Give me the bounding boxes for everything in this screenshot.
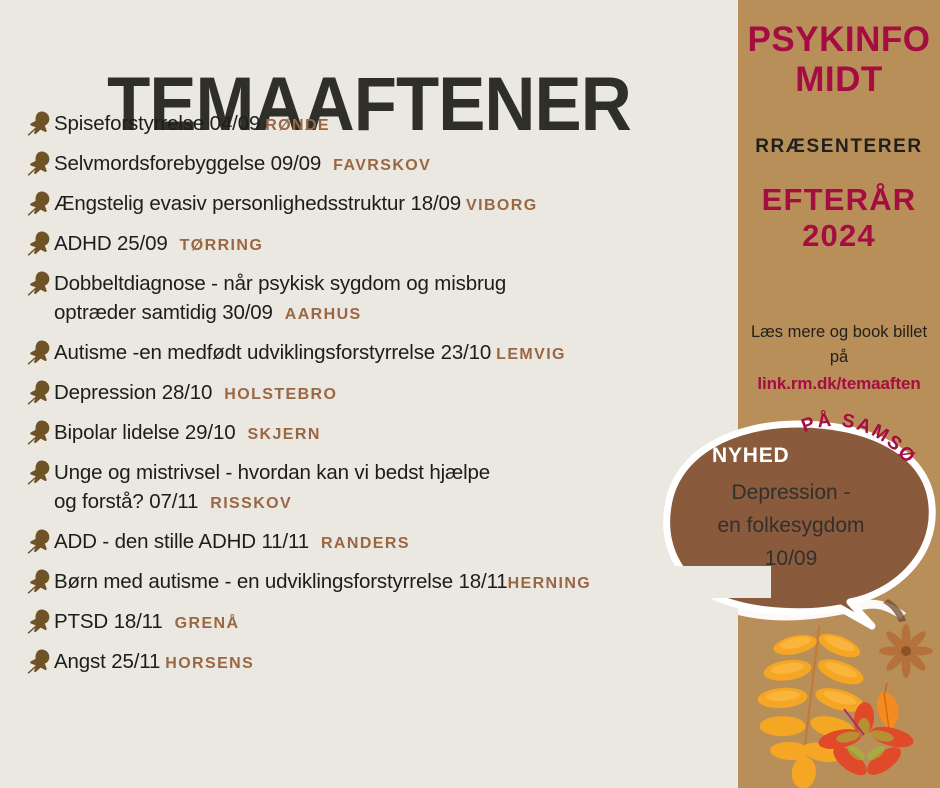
event-text: Ængstelig evasiv personlighedsstruktur 1… xyxy=(54,188,746,220)
event-text: Depression 28/10HOLSTEBRO xyxy=(54,377,746,409)
pushpin-icon xyxy=(26,648,54,674)
event-row[interactable]: Angst 25/11HORSENS xyxy=(26,646,746,678)
event-row[interactable]: ADHD 25/09TØRRING xyxy=(26,228,746,260)
event-row[interactable]: Depression 28/10HOLSTEBRO xyxy=(26,377,746,409)
pushpin-icon xyxy=(26,230,54,256)
pushpin-icon xyxy=(26,379,54,405)
event-title: Angst 25/11 xyxy=(54,650,160,673)
event-row[interactable]: Bipolar lidelse 29/10SKJERN xyxy=(26,417,746,449)
event-title-line-1: Dobbeltdiagnose - når psykisk sygdom og … xyxy=(54,269,746,298)
event-row[interactable]: Børn med autisme - en udviklingsforstyrr… xyxy=(26,566,771,598)
event-text: Angst 25/11HORSENS xyxy=(54,646,746,678)
event-city: RØNDE xyxy=(265,117,330,134)
event-text: Unge og mistrivsel - hvordan kan vi beds… xyxy=(54,457,746,518)
pushpin-icon xyxy=(26,150,54,176)
event-title: ADHD 25/09 xyxy=(54,232,168,255)
event-city: AARHUS xyxy=(285,306,362,323)
event-title-line-2-text: og forstå? 07/11 xyxy=(54,490,198,513)
booking-info: Læs mere og book billet på link.rm.dk/te… xyxy=(744,320,934,396)
event-title: Depression 28/10 xyxy=(54,381,212,404)
event-city: GRENÅ xyxy=(175,615,240,632)
pushpin-icon xyxy=(26,190,54,216)
event-city: VIBORG xyxy=(466,197,538,214)
event-text: PTSD 18/11GRENÅ xyxy=(54,606,746,638)
event-city: FAVRSKOV xyxy=(333,157,431,174)
event-row[interactable]: Autisme -en medfødt udviklingsforstyrrel… xyxy=(26,337,746,369)
brand-psykinfo: PSYKINFO xyxy=(738,20,940,60)
pushpin-icon xyxy=(26,110,54,136)
event-title-line-2-text: optræder samtidig 30/09 xyxy=(54,301,273,324)
poster-canvas: PSYKINFO MIDT RRÆSENTERER EFTERÅR 2024 L… xyxy=(0,0,940,788)
event-row[interactable]: Dobbeltdiagnose - når psykisk sygdom og … xyxy=(26,268,746,329)
booking-text: Læs mere og book billet på xyxy=(751,323,927,366)
pushpin-icon xyxy=(26,528,54,554)
event-text: Dobbeltdiagnose - når psykisk sygdom og … xyxy=(54,268,746,329)
season-efteraar: EFTERÅR xyxy=(738,182,940,218)
arc-text: PÅ SAMSØ xyxy=(799,410,920,469)
pushpin-icon xyxy=(26,270,54,296)
event-text: Autisme -en medfødt udviklingsforstyrrel… xyxy=(54,337,746,369)
event-title: Selvmordsforebyggelse 09/09 xyxy=(54,152,321,175)
event-title: Bipolar lidelse 29/10 xyxy=(54,421,235,444)
pushpin-icon xyxy=(26,339,54,365)
event-row[interactable]: Selvmordsforebyggelse 09/09FAVRSKOV xyxy=(26,148,746,180)
event-row[interactable]: Spiseforstyrrelse 04/09RØNDE xyxy=(26,108,746,140)
pushpin-icon xyxy=(26,568,54,594)
event-text: Selvmordsforebyggelse 09/09FAVRSKOV xyxy=(54,148,746,180)
event-list: Spiseforstyrrelse 04/09RØNDESelvmordsfor… xyxy=(26,108,746,686)
event-title: PTSD 18/11 xyxy=(54,610,163,633)
bubble-line-2: en folkesygdom xyxy=(676,509,906,542)
presents-label: RRÆSENTERER xyxy=(738,136,940,158)
event-row[interactable]: Unge og mistrivsel - hvordan kan vi beds… xyxy=(26,457,746,518)
event-city: TØRRING xyxy=(180,237,264,254)
event-title-line-1: Unge og mistrivsel - hvordan kan vi beds… xyxy=(54,458,746,487)
event-text: ADD - den stille ADHD 11/11RANDERS xyxy=(54,526,746,558)
event-text: Bipolar lidelse 29/10SKJERN xyxy=(54,417,746,449)
event-title: ADD - den stille ADHD 11/11 xyxy=(54,530,309,553)
event-title: Ængstelig evasiv personlighedsstruktur 1… xyxy=(54,192,461,215)
event-title-line-2: optræder samtidig 30/09AARHUS xyxy=(54,298,746,329)
pushpin-icon xyxy=(26,419,54,445)
event-title: Spiseforstyrrelse 04/09 xyxy=(54,112,260,135)
event-title-line-2: og forstå? 07/11RISSKOV xyxy=(54,487,746,518)
event-row[interactable]: ADD - den stille ADHD 11/11RANDERS xyxy=(26,526,746,558)
booking-link[interactable]: link.rm.dk/temaaften xyxy=(744,371,934,396)
event-city: RANDERS xyxy=(321,535,410,552)
pushpin-icon xyxy=(26,459,54,485)
event-row[interactable]: Ængstelig evasiv personlighedsstruktur 1… xyxy=(26,188,746,220)
event-row[interactable]: PTSD 18/11GRENÅ xyxy=(26,606,746,638)
paa-samsoe-arc-label: PÅ SAMSØ xyxy=(798,422,928,492)
event-city: SKJERN xyxy=(247,426,320,443)
event-text: Spiseforstyrrelse 04/09RØNDE xyxy=(54,108,746,140)
event-text: ADHD 25/09TØRRING xyxy=(54,228,746,260)
brand-midt: MIDT xyxy=(738,60,940,100)
event-city: RISSKOV xyxy=(210,495,292,512)
bubble-content: NYHED Depression - en folkesygdom 10/09 … xyxy=(660,418,940,643)
event-city: HORSENS xyxy=(165,655,254,672)
event-text: Børn med autisme - en udviklingsforstyrr… xyxy=(54,566,771,598)
event-title: Børn med autisme - en udviklingsforstyrr… xyxy=(54,570,508,593)
event-city: LEMVIG xyxy=(496,346,566,363)
pushpin-icon xyxy=(26,608,54,634)
season-year: 2024 xyxy=(738,218,940,254)
nyhed-badge: NYHED xyxy=(712,444,790,468)
event-city: HOLSTEBRO xyxy=(224,386,337,403)
news-speech-bubble[interactable]: NYHED Depression - en folkesygdom 10/09 … xyxy=(660,418,940,643)
event-title: Autisme -en medfødt udviklingsforstyrrel… xyxy=(54,341,491,364)
event-city: HERNING xyxy=(508,575,592,592)
